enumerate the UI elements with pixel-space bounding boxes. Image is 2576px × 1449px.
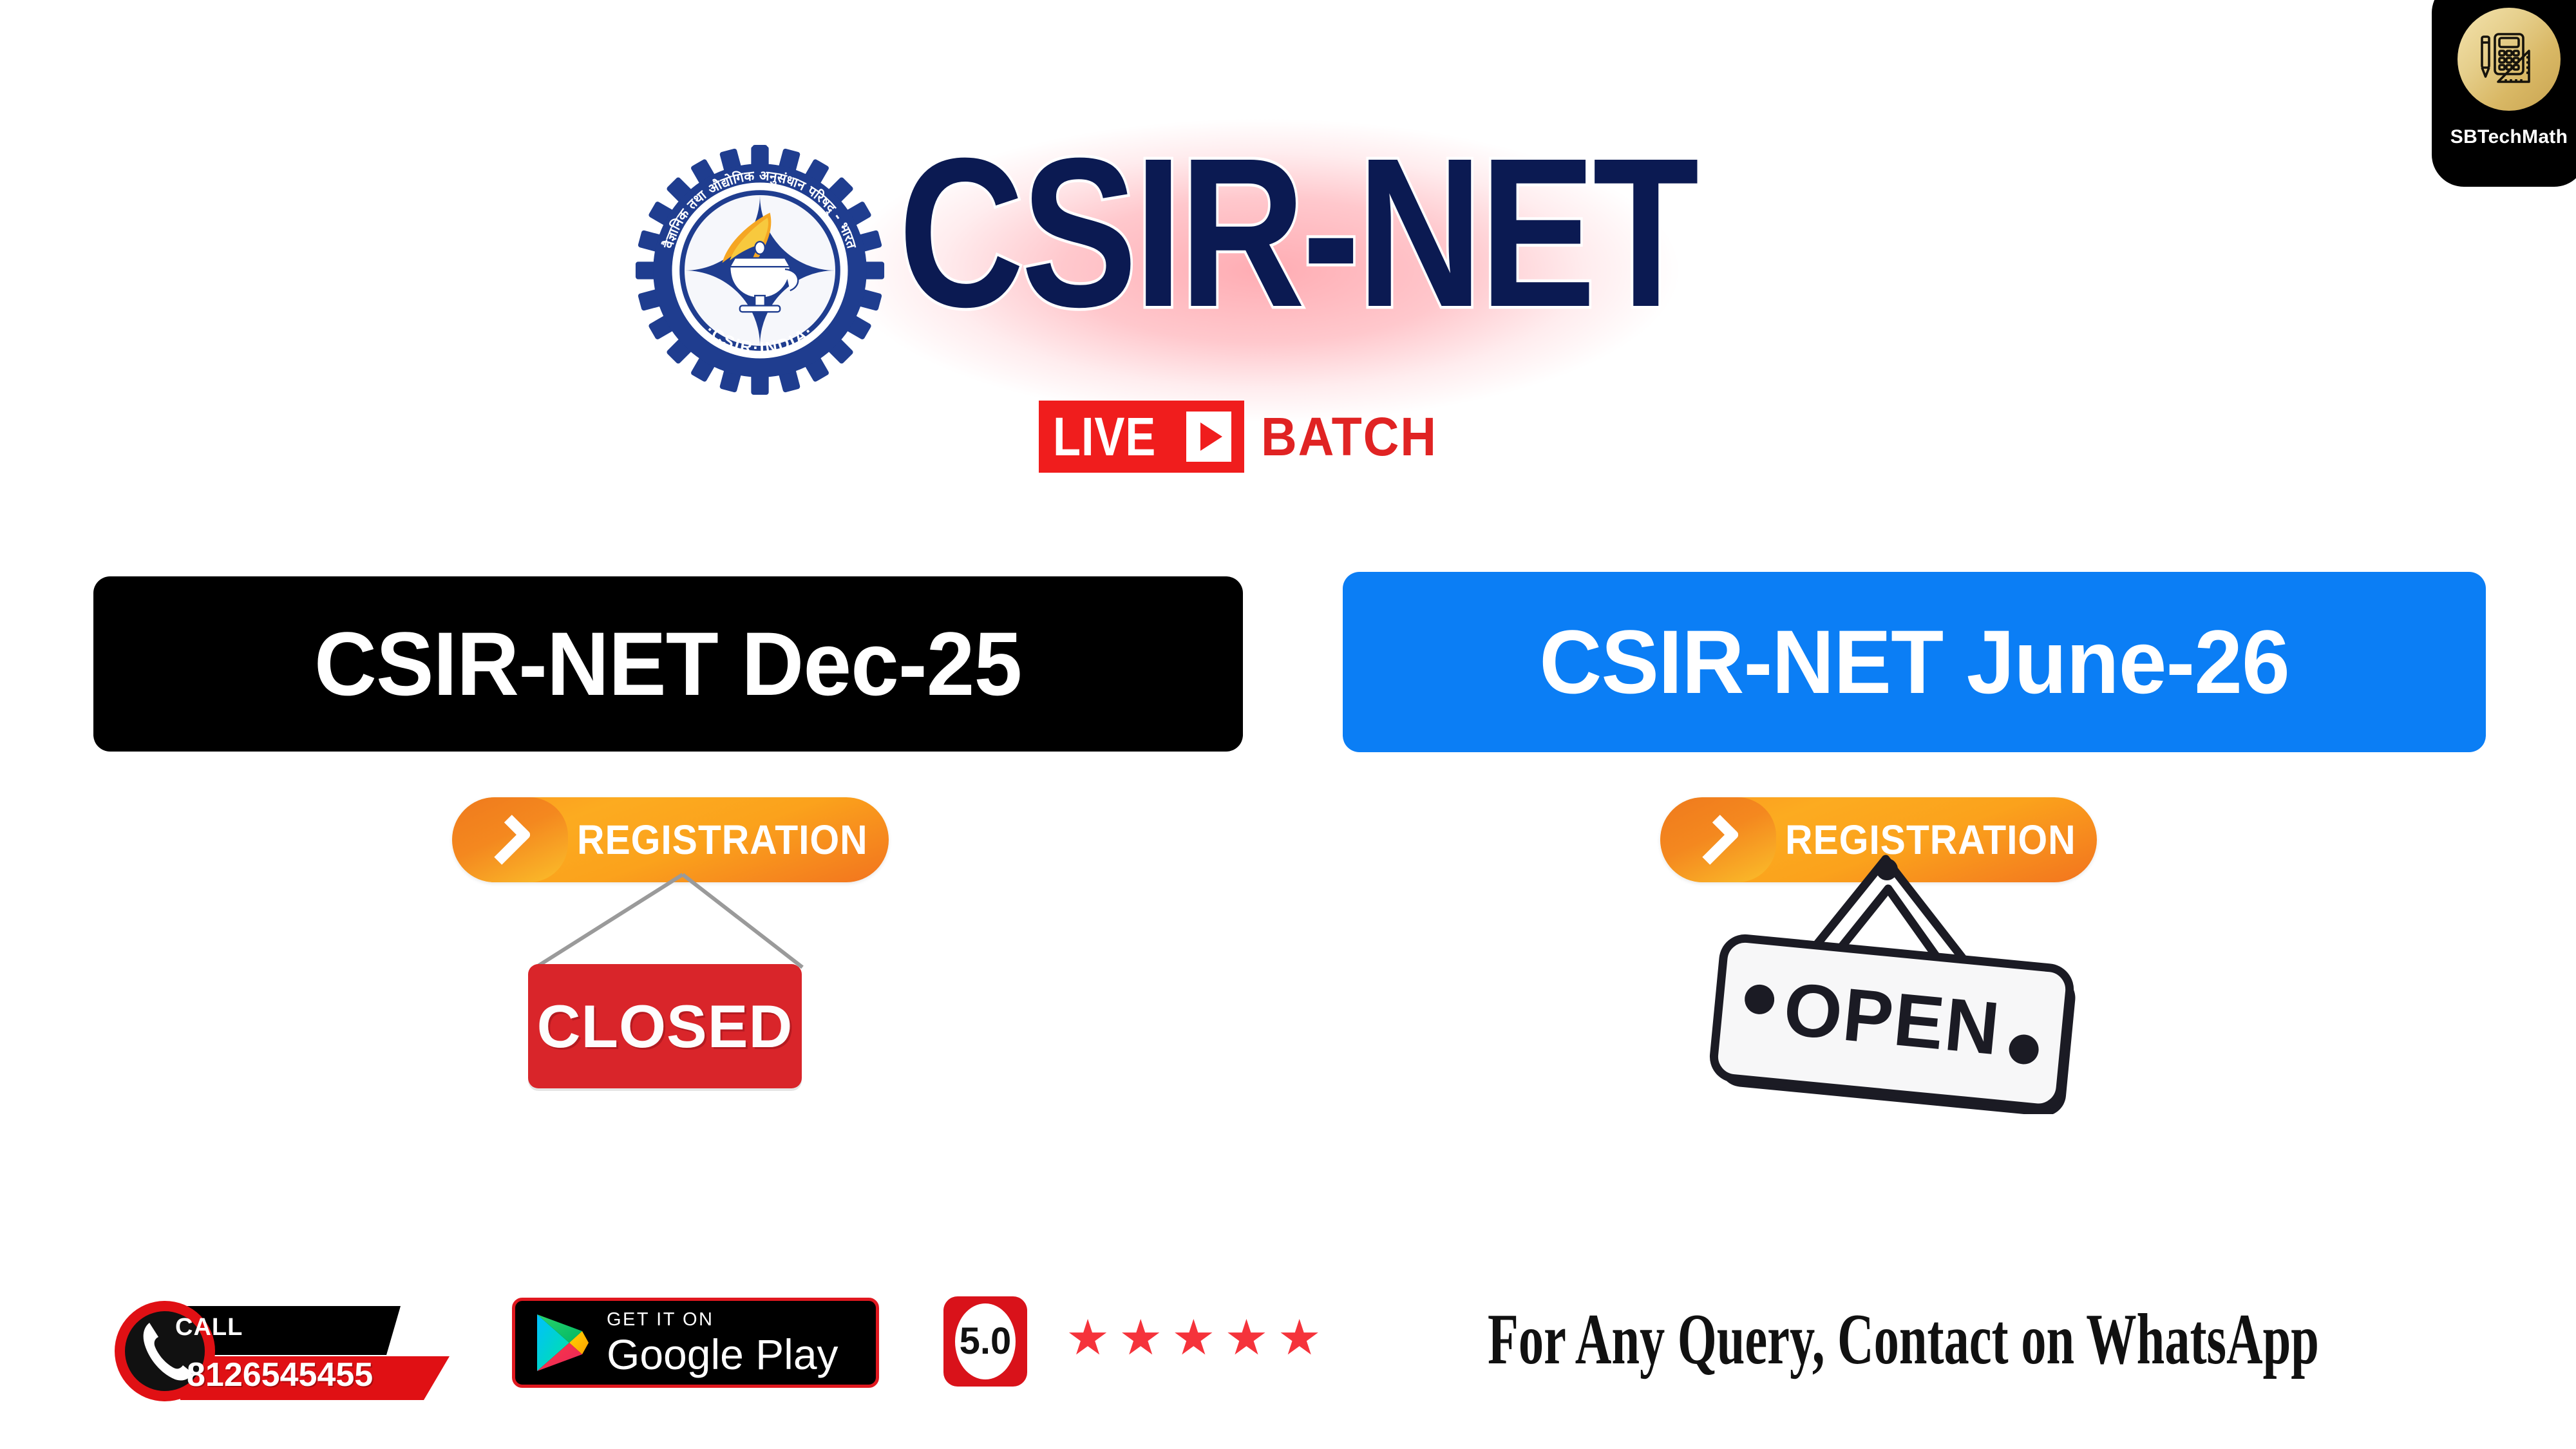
star-icon: ★ <box>1171 1314 1215 1363</box>
live-chip: LIVE <box>1039 401 1244 473</box>
star-icon: ★ <box>1066 1314 1110 1363</box>
status-sign-closed: CLOSED <box>502 857 863 1101</box>
batch-title-june26: CSIR-NET June-26 <box>1539 617 2289 707</box>
rating-value: 5.0 <box>960 1323 1012 1360</box>
star-icon: ★ <box>1119 1314 1162 1363</box>
status-sign-open: OPEN <box>1681 844 2106 1114</box>
rating-badge: 5.0 <box>943 1296 1027 1387</box>
calculator-pencil-ruler-icon <box>2458 8 2561 111</box>
brand-badge[interactable]: SBTechMath <box>2432 0 2576 187</box>
live-batch-banner: LIVE BATCH <box>1039 401 1452 473</box>
live-label: LIVE <box>1053 410 1156 464</box>
registration-label-dec25: REGISTRATION <box>577 819 868 860</box>
call-label: CALL <box>175 1314 243 1341</box>
status-badge-closed: CLOSED <box>528 964 802 1088</box>
play-triangle-icon <box>1186 412 1231 462</box>
batch-label: BATCH <box>1261 410 1437 464</box>
brand-name: SBTechMath <box>2450 126 2568 148</box>
batch-title-dec25: CSIR-NET Dec-25 <box>314 619 1021 709</box>
page-title: CSIR-NET <box>898 126 1696 339</box>
google-play-badge[interactable]: GET IT ON Google Play <box>512 1298 879 1388</box>
call-number: 8126545455 <box>187 1356 373 1394</box>
google-play-small-label: GET IT ON <box>607 1311 838 1329</box>
whatsapp-contact-text: For Any Query, Contact on WhatsApp <box>1488 1303 2319 1376</box>
star-icon: ★ <box>1224 1314 1268 1363</box>
rating-oval: 5.0 <box>955 1303 1016 1379</box>
batch-title-bar-june26[interactable]: CSIR-NET June-26 <box>1343 572 2486 752</box>
batch-title-bar-dec25[interactable]: CSIR-NET Dec-25 <box>93 576 1243 752</box>
google-play-triangle-icon <box>532 1311 591 1375</box>
google-play-big-label: Google Play <box>607 1333 838 1376</box>
rating-stars: ★ ★ ★ ★ ★ <box>1066 1314 1321 1363</box>
status-text-closed: CLOSED <box>537 996 793 1057</box>
csir-india-emblem: वैज्ञानिक तथा औद्योगिक अनुसंधान परिषद् -… <box>634 145 885 396</box>
star-icon: ★ <box>1278 1314 1321 1363</box>
